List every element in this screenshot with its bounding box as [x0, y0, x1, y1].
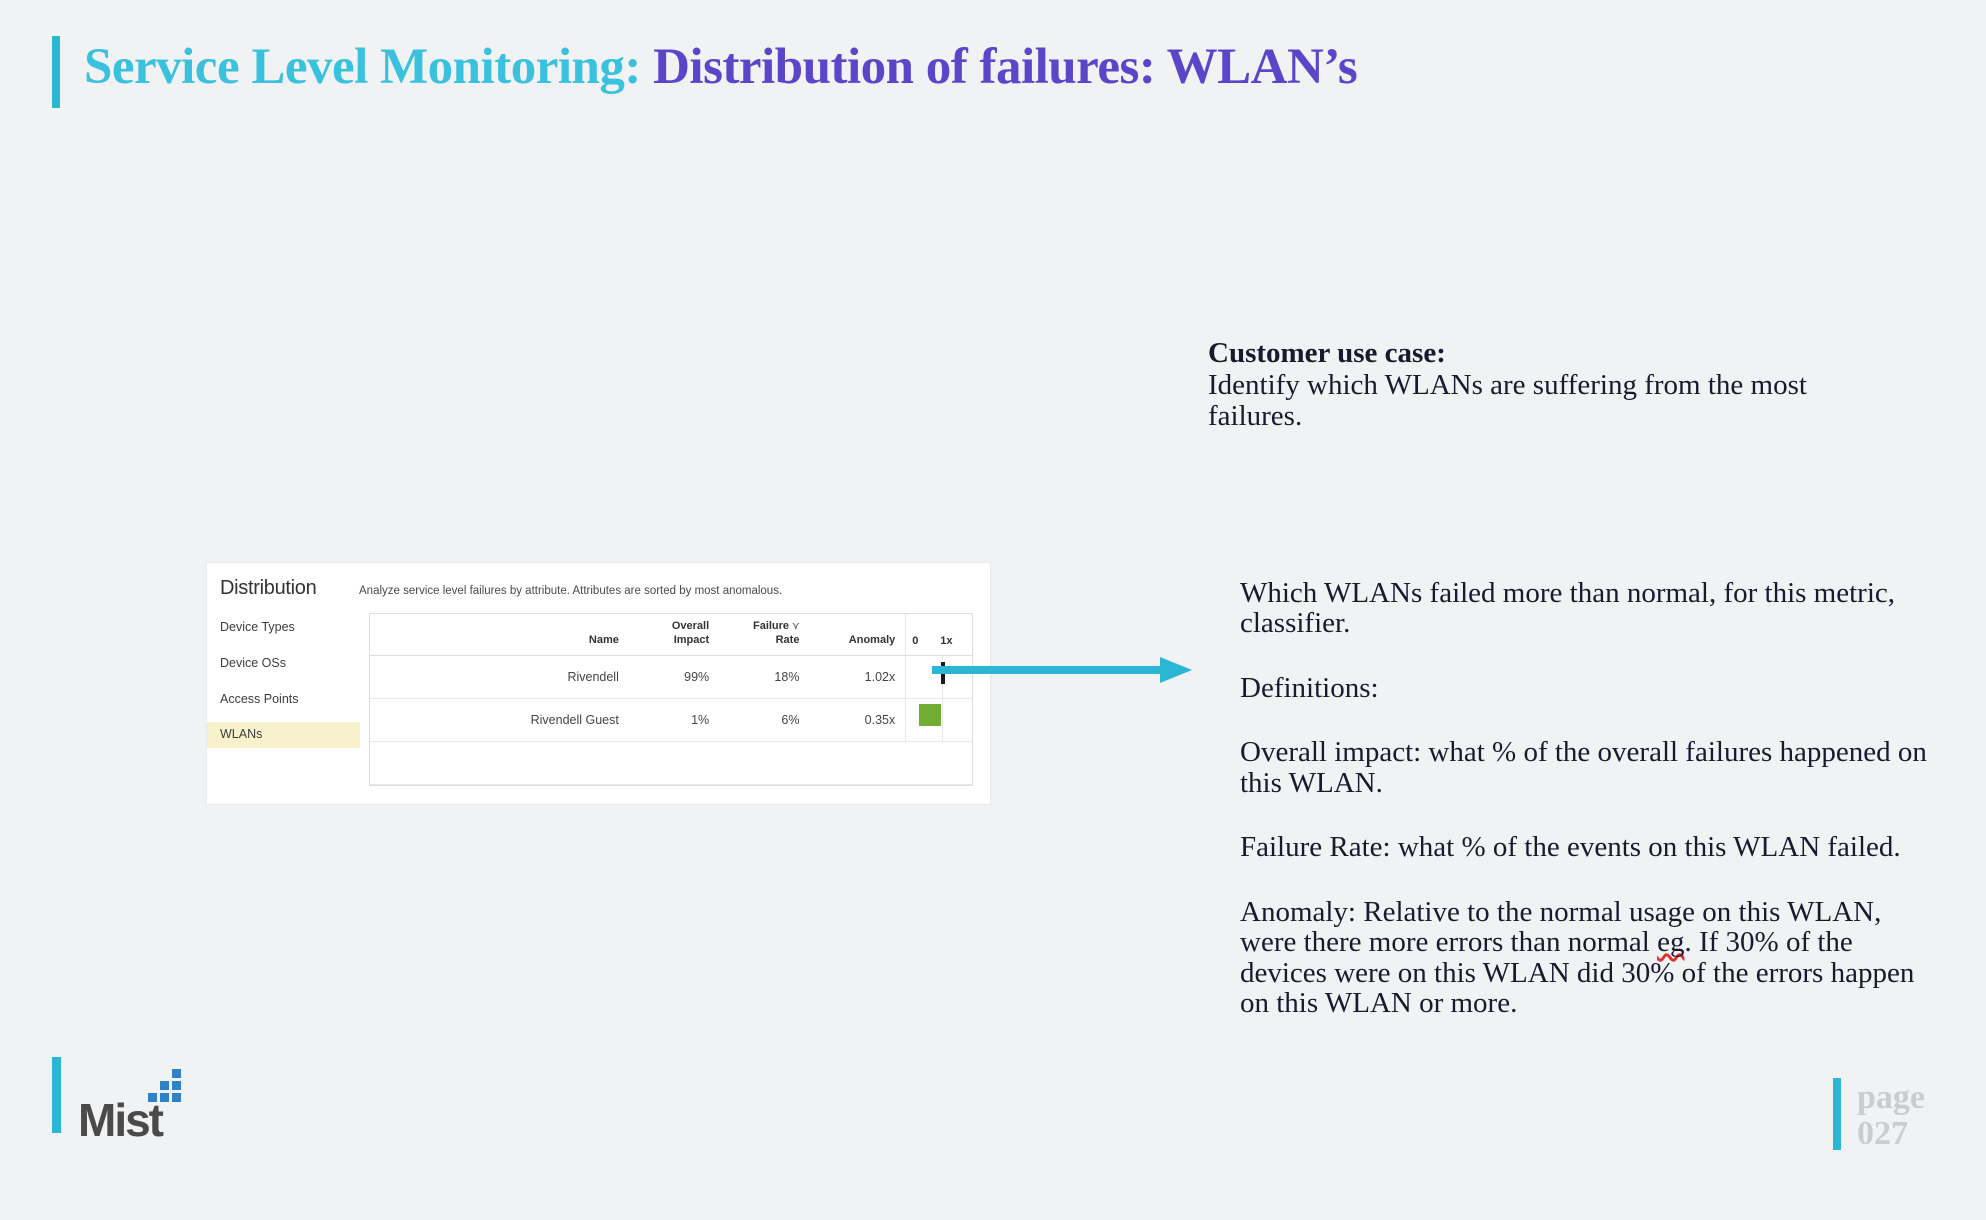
mist-wordmark: Mist [78, 1097, 162, 1143]
mist-logo: Mist [78, 1075, 198, 1145]
page-value: 027 [1857, 1116, 1925, 1152]
paragraph-overall-impact: Overall impact: what % of the overall fa… [1240, 737, 1940, 798]
customer-use-case-label: Customer use case: [1208, 338, 1908, 368]
row-anomaly-value: 1.02x [809, 655, 905, 698]
sidebar-item-device-oss[interactable]: Device OSs [207, 651, 360, 677]
distribution-sidebar: Device Types Device OSs Access Points WL… [207, 615, 360, 758]
anomaly-gridline [942, 699, 943, 741]
column-header-failure-rate-line2: Rate [776, 634, 800, 646]
column-header-name[interactable]: Name [370, 614, 629, 655]
logo-dot [172, 1069, 181, 1078]
empty-cell [370, 741, 629, 784]
column-header-anomaly[interactable]: Anomaly [809, 614, 905, 655]
page-label: page [1857, 1080, 1925, 1116]
table-empty-row [370, 741, 972, 784]
column-header-anomaly-label: Anomaly [849, 634, 895, 646]
column-header-failure-rate-line1: Failure [753, 620, 789, 632]
page-accent-bar [1833, 1078, 1841, 1150]
page-number: page 027 [1857, 1080, 1925, 1151]
column-header-name-label: Name [589, 634, 619, 646]
anomaly-bar-rivendell-guest [919, 704, 941, 726]
empty-cell [906, 741, 972, 784]
logo-dot [160, 1093, 169, 1102]
row-failure-rate: 6% [719, 698, 809, 741]
double-chevron-down-icon[interactable]: ⋎ [792, 621, 799, 632]
empty-cell [629, 741, 719, 784]
definitions-block: Which WLANs failed more than normal, for… [1240, 578, 1940, 1018]
distribution-heading: Distribution [220, 577, 316, 600]
page-title-part-1: Service Level Monitoring: [84, 39, 653, 95]
empty-cell [719, 741, 809, 784]
page-title-part-2: Distribution of failures: WLAN’s [653, 39, 1357, 95]
customer-use-case-text: Identify which WLANs are suffering from … [1208, 370, 1908, 431]
row-name-rivendell-guest[interactable]: Rivendell Guest [370, 698, 629, 741]
row-anomaly-bar-cell [906, 698, 972, 741]
title-accent-bar [52, 36, 60, 108]
table-row[interactable]: Rivendell 99% 18% 1.02x [370, 655, 972, 698]
anomaly-axis-header: 0 1x [906, 614, 972, 655]
table-row[interactable]: Rivendell Guest 1% 6% 0.35x [370, 698, 972, 741]
logo-dot [172, 1093, 181, 1102]
axis-tick-min: 0 [912, 635, 918, 649]
empty-cell [809, 741, 905, 784]
row-overall-impact: 1% [629, 698, 719, 741]
row-overall-impact: 99% [629, 655, 719, 698]
column-header-overall-impact[interactable]: Overall Impact [629, 614, 719, 655]
column-header-overall-impact-line1: Overall [672, 620, 709, 632]
column-header-overall-impact-line2: Impact [674, 634, 709, 646]
paragraph-which-wlans: Which WLANs failed more than normal, for… [1240, 578, 1940, 639]
distribution-table: Name Overall Impact Failure ⋎ Rate Anoma… [369, 613, 973, 786]
sidebar-item-wlans[interactable]: WLANs [207, 722, 360, 748]
logo-dot [148, 1093, 157, 1102]
table-header-row: Name Overall Impact Failure ⋎ Rate Anoma… [370, 614, 972, 655]
distribution-screenshot-card: Distribution Analyze service level failu… [207, 563, 990, 804]
paragraph-anomaly: Anomaly: Relative to the normal usage on… [1240, 897, 1940, 1019]
logo-dot [172, 1081, 181, 1090]
paragraph-failure-rate: Failure Rate: what % of the events on th… [1240, 832, 1940, 862]
axis-tick-max: 1x [940, 635, 952, 649]
column-header-failure-rate[interactable]: Failure ⋎ Rate [719, 614, 809, 655]
row-name-rivendell[interactable]: Rivendell [370, 655, 629, 698]
row-failure-rate: 18% [719, 655, 809, 698]
footer-accent-bar [52, 1057, 61, 1133]
distribution-subtitle: Analyze service level failures by attrib… [359, 585, 782, 597]
sidebar-item-access-points[interactable]: Access Points [207, 687, 360, 713]
paragraph-definitions-label: Definitions: [1240, 673, 1940, 703]
logo-dot [160, 1081, 169, 1090]
customer-use-case-block: Customer use case: Identify which WLANs … [1208, 338, 1908, 431]
row-anomaly-value: 0.35x [809, 698, 905, 741]
callout-arrow-icon [932, 655, 1194, 685]
sidebar-item-device-types[interactable]: Device Types [207, 615, 360, 641]
page-title: Service Level Monitoring: Distribution o… [84, 38, 1357, 96]
spellcheck-flagged-word: eg [1657, 926, 1684, 958]
